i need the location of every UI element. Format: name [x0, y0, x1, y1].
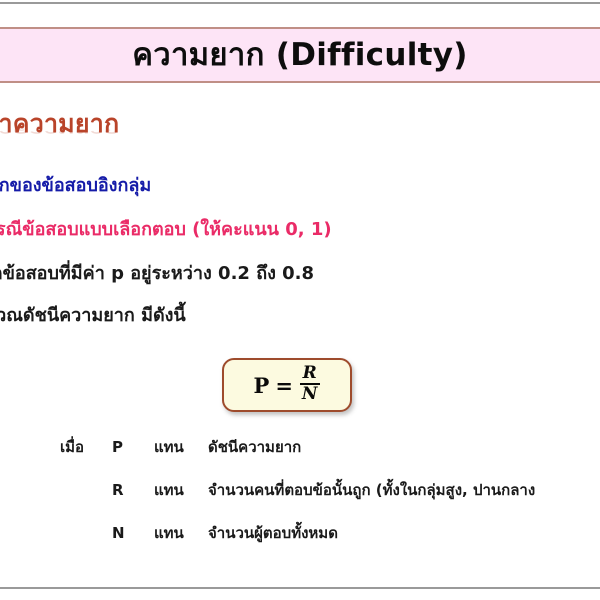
legend-row: เมื่อ P แทน ดัชนีความยาก: [60, 435, 301, 459]
legend-means-label: แทน: [154, 521, 208, 545]
legend-definition-r: จำนวนคนที่ตอบข้อนั้นถูก (ทั้งในกลุ่มสูง,…: [208, 478, 535, 502]
legend-row: N แทน จำนวนผู้ตอบทั้งหมด: [60, 521, 338, 545]
legend-row: R แทน จำนวนคนที่ตอบข้อนั้นถูก (ทั้งในกลุ…: [60, 478, 535, 502]
slide-canvas: ความยาก (Difficulty) ารหาความยาก ารหาควา…: [0, 0, 600, 600]
formula-expression: P = R N: [224, 360, 350, 410]
formula-left-symbol: P: [254, 373, 270, 398]
slide-body: ารหาความยาก ารหาความยาก วามยากของข้อสอบอ…: [0, 83, 600, 587]
legend-definition-n: จำนวนผู้ตอบทั้งหมด: [208, 521, 338, 545]
slide-bottom-border: [0, 587, 600, 589]
formula-numerator: R: [300, 365, 320, 383]
page-title: ความยาก (Difficulty): [132, 40, 468, 71]
legend-definition-p: ดัชนีความยาก: [208, 435, 301, 459]
slide-title-bar: ความยาก (Difficulty): [0, 27, 600, 83]
legend-means-label: แทน: [154, 478, 208, 502]
legend-symbol-n: N: [112, 524, 154, 542]
formula-fraction: R N: [299, 365, 321, 403]
bullet-multiple-choice-case: 1) กรณีข้อสอบแบบเลือกตอบ (ให้คะแนน 0, 1): [0, 221, 332, 240]
legend-means-label: แทน: [154, 435, 208, 459]
legend-when-label: เมื่อ: [60, 435, 112, 459]
bullet-p-value-range: ดเลือกข้อสอบที่มีค่า p อยู่ระหว่าง 0.2 ถ…: [0, 265, 314, 284]
section-heading-reflection: ารหาความยาก: [0, 123, 119, 137]
bullet-formula-intro: รคำนวณดัชนีความยาก มีดังนี้: [0, 307, 186, 326]
slide-top-border: [0, 2, 600, 4]
formula-box: P = R N: [222, 358, 352, 412]
legend-symbol-r: R: [112, 481, 154, 499]
formula-equals-sign: =: [275, 373, 293, 398]
formula-denominator: N: [299, 385, 321, 403]
bullet-norm-referenced-difficulty: วามยากของข้อสอบอิงกลุ่ม: [0, 177, 151, 196]
legend-symbol-p: P: [112, 438, 154, 456]
section-heading: ารหาความยาก ารหาความยาก: [0, 111, 119, 162]
